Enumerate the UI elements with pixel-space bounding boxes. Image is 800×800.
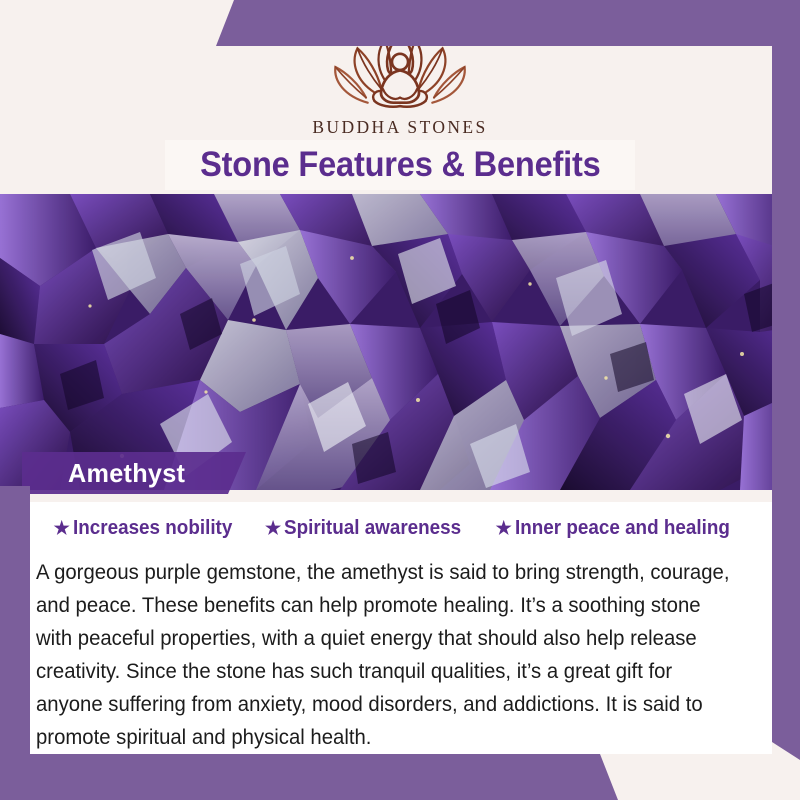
stone-description: A gorgeous purple gemstone, the amethyst… [36, 556, 733, 754]
star-icon: ★ [54, 519, 70, 537]
frame-accent-bottom [0, 754, 800, 800]
benefit-label: Spiritual awareness [284, 516, 461, 540]
stone-name-label: Amethyst [68, 458, 185, 489]
page-title: Stone Features & Benefits [200, 145, 601, 185]
star-icon: ★ [265, 519, 281, 537]
benefit-item-0: ★ Increases nobility [54, 516, 246, 540]
benefits-list: ★ Increases nobility ★ Spiritual awarene… [30, 516, 772, 540]
benefit-label: Increases nobility [73, 516, 232, 540]
product-info-card: BUDDHA STONES [0, 0, 800, 800]
benefit-item-2: ★ Inner peace and healing [496, 516, 749, 540]
star-icon: ★ [496, 519, 512, 537]
page-title-band: Stone Features & Benefits [165, 140, 635, 190]
brand-name: BUDDHA STONES [0, 117, 800, 138]
benefit-label: Inner peace and healing [515, 516, 730, 540]
amethyst-crystal-cluster-photo [0, 194, 800, 490]
frame-accent-right [772, 0, 800, 760]
benefit-item-1: ★ Spiritual awareness [265, 516, 477, 540]
frame-accent-left [0, 486, 30, 800]
